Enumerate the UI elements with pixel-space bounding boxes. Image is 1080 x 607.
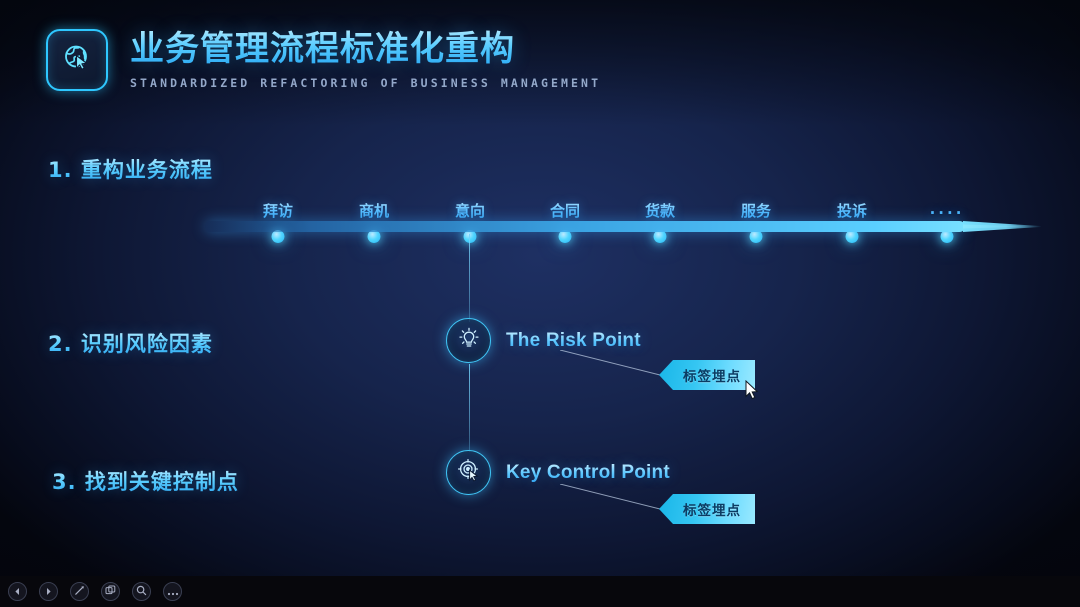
page-subtitle: STANDARDIZED REFACTORING OF BUSINESS MAN… — [130, 76, 601, 90]
next-slide-button[interactable] — [39, 582, 58, 601]
caret-left-icon — [13, 583, 22, 601]
slide-overview-button[interactable] — [101, 582, 120, 601]
caret-right-icon — [44, 583, 53, 601]
section-heading-rebuild: 1. 重构业务流程 — [48, 154, 213, 184]
slide-header: 业务管理流程标准化重构 STANDARDIZED REFACTORING OF … — [46, 26, 601, 91]
slides-icon — [105, 583, 116, 601]
timeline-arrow-highlight — [963, 218, 1035, 235]
risk-point-tag[interactable]: 标签埋点 — [659, 360, 755, 390]
pen-icon — [74, 583, 85, 601]
pen-tool-button[interactable] — [70, 582, 89, 601]
page-title: 业务管理流程标准化重构 — [130, 26, 601, 72]
presentation-toolbar — [0, 576, 1080, 607]
globe-cursor-icon — [60, 41, 94, 80]
key-control-point-icon-circle — [446, 450, 491, 495]
key-control-point-tag[interactable]: 标签埋点 — [659, 494, 755, 524]
timeline-bar — [205, 221, 965, 232]
lightbulb-icon — [456, 325, 482, 356]
section-heading-risk: 2. 识别风险因素 — [48, 328, 213, 358]
mouse-cursor-icon — [745, 380, 759, 400]
target-cursor-icon — [456, 457, 482, 488]
magnifier-icon — [136, 583, 147, 601]
logo-box — [46, 29, 108, 91]
slide-canvas: 业务管理流程标准化重构 STANDARDIZED REFACTORING OF … — [0, 0, 1080, 607]
connector-line-bottom — [469, 364, 470, 452]
previous-slide-button[interactable] — [8, 582, 27, 601]
section-heading-control: 3. 找到关键控制点 — [52, 466, 239, 496]
key-control-point-label: Key Control Point — [506, 462, 670, 484]
risk-tag-leader-line — [560, 350, 670, 380]
zoom-button[interactable] — [132, 582, 151, 601]
risk-point-icon-circle — [446, 318, 491, 363]
control-tag-leader-line — [560, 484, 670, 514]
ellipsis-icon — [167, 583, 179, 601]
risk-point-label: The Risk Point — [506, 330, 641, 352]
title-block: 业务管理流程标准化重构 STANDARDIZED REFACTORING OF … — [130, 26, 601, 90]
more-options-button[interactable] — [163, 582, 182, 601]
risk-point-tag-label: 标签埋点 — [673, 365, 741, 385]
key-control-point-tag-label: 标签埋点 — [673, 499, 741, 519]
process-timeline — [0, 190, 1080, 256]
